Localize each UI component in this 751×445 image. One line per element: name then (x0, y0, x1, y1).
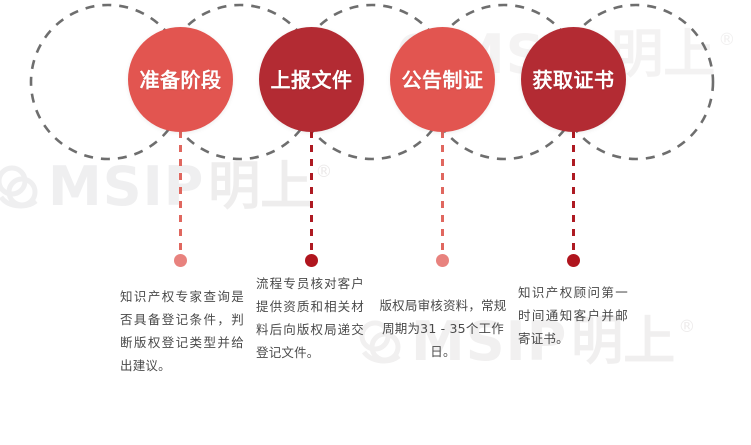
stage-circle-2[interactable]: 上报文件 (259, 27, 364, 132)
stage-label-4: 获取证书 (533, 70, 615, 90)
connector-step-3 (441, 131, 444, 254)
step-description-2: 流程专员核对客户提供资质和相关材料后向版权局递交登记文件。 (256, 272, 364, 365)
step-description-4: 知识产权顾问第一时间通知客户并邮寄证书。 (518, 281, 628, 350)
connector-line (310, 131, 313, 254)
connector-line (572, 131, 575, 254)
stage-label-3: 公告制证 (402, 70, 484, 90)
connector-line (179, 131, 182, 254)
connector-step-1 (179, 131, 182, 254)
connector-dot (174, 254, 187, 267)
connector-dot (436, 254, 449, 267)
stage-circle-3[interactable]: 公告制证 (390, 27, 495, 132)
dashed-circle-chain (0, 0, 751, 180)
step-description-1: 知识产权专家查询是否具备登记条件，判断版权登记类型并给出建议。 (120, 285, 244, 378)
stage-circle-4[interactable]: 获取证书 (521, 27, 626, 132)
stage-label-2: 上报文件 (271, 70, 353, 90)
step-description-3: 版权局审核资料，常规周期为31 - 35个工作日。 (378, 294, 508, 363)
connector-step-4 (572, 131, 575, 254)
stage-label-1: 准备阶段 (140, 70, 222, 90)
connector-step-2 (310, 131, 313, 254)
connector-dot (305, 254, 318, 267)
stage-circle-1[interactable]: 准备阶段 (128, 27, 233, 132)
flow-diagram-canvas: MSIP 明上 ® MSIP 明上 ® MSIP 明上 ® (0, 0, 751, 445)
registered-mark-icon: ® (678, 319, 695, 336)
connector-dot (567, 254, 580, 267)
connector-line (441, 131, 444, 254)
